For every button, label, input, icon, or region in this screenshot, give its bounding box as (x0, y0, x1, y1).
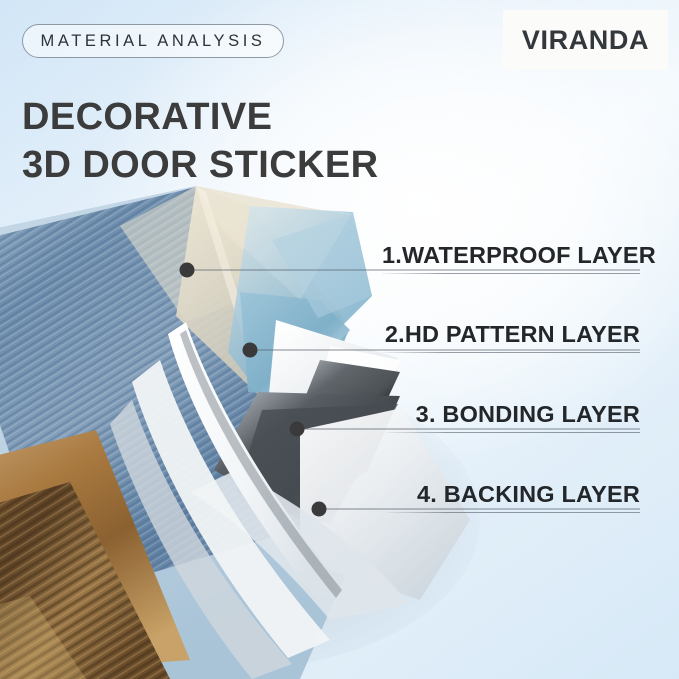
title-line-2: 3D DOOR STICKER (22, 141, 492, 189)
callout-4: 4. BACKING LAYER (387, 480, 640, 513)
callout-dot-2 (243, 343, 258, 358)
badge-label: MATERIAL ANALYSIS (40, 32, 265, 51)
brand-logo: VIRANDA (503, 10, 668, 70)
brand-name: VIRANDA (522, 25, 649, 56)
callout-dot-1 (180, 263, 195, 278)
title-line-1: DECORATIVE (22, 96, 272, 138)
callout-3-rule (387, 432, 640, 433)
callout-1-label: 1.WATERPROOF LAYER (382, 241, 640, 269)
callout-2-label: 2.HD PATTERN LAYER (382, 320, 640, 348)
callout-4-rule (387, 512, 640, 513)
callout-dot-4 (312, 502, 327, 517)
callout-3: 3. BONDING LAYER (387, 400, 640, 433)
material-analysis-badge: MATERIAL ANALYSIS (22, 24, 284, 58)
callout-1-rule (382, 273, 640, 274)
callout-2-rule (382, 352, 640, 353)
page-title: DECORATIVE 3D DOOR STICKER (22, 93, 492, 189)
callout-4-label: 4. BACKING LAYER (387, 480, 640, 508)
callout-2: 2.HD PATTERN LAYER (382, 320, 640, 353)
callout-dot-3 (290, 422, 305, 437)
material-analysis-infographic: MATERIAL ANALYSIS DECORATIVE 3D DOOR STI… (0, 0, 679, 679)
callout-3-label: 3. BONDING LAYER (387, 400, 640, 428)
callout-1: 1.WATERPROOF LAYER (382, 241, 640, 274)
